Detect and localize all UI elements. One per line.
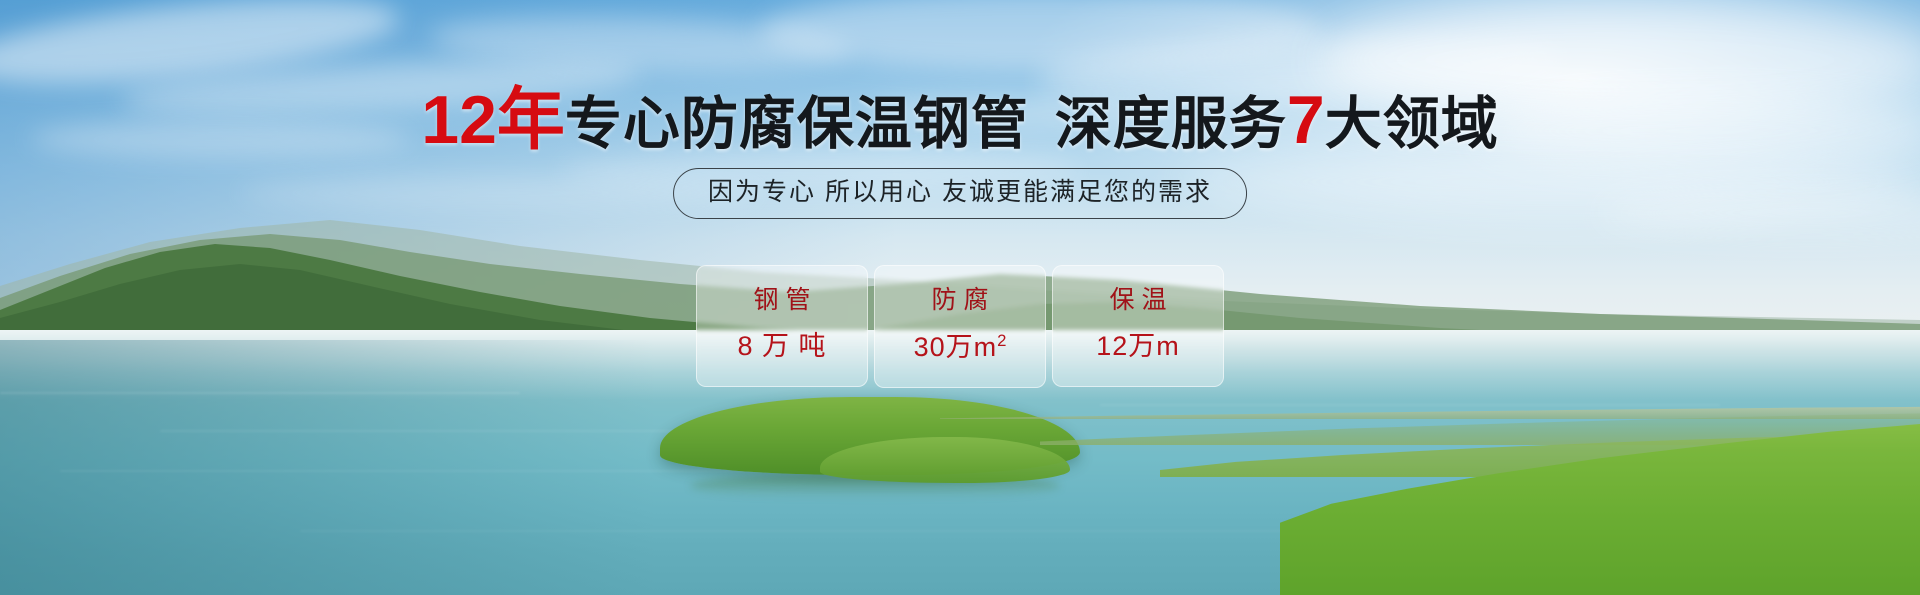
page-title: 12年专心防腐保温钢管深度服务7大领域 xyxy=(0,86,1920,154)
stat-value: 12万m xyxy=(1053,333,1223,360)
stat-value-text: 30万m xyxy=(914,332,998,362)
stat-card-steel-pipe[interactable]: 钢管 8 万 吨 xyxy=(696,265,868,387)
stats-row: 钢管 8 万 吨 防腐 30万m2 保温 12万m xyxy=(696,265,1224,388)
subtitle-text: 因为专心 所以用心 友诚更能满足您的需求 xyxy=(708,178,1212,206)
stat-value-superscript: 2 xyxy=(997,331,1006,350)
headline-fields: 大领域 xyxy=(1325,92,1499,156)
headline-service: 深度服务 xyxy=(1055,92,1287,156)
stat-value: 8 万 吨 xyxy=(697,333,867,360)
headline-fields-count: 7 xyxy=(1287,82,1325,158)
stat-label: 保温 xyxy=(1053,288,1223,313)
stat-value-text: 8 万 吨 xyxy=(737,331,826,361)
subtitle-pill: 因为专心 所以用心 友诚更能满足您的需求 xyxy=(673,168,1247,219)
stat-label: 钢管 xyxy=(697,288,867,313)
stat-label: 防腐 xyxy=(875,288,1045,313)
headline-main: 专心防腐保温钢管 xyxy=(565,92,1029,156)
stat-value: 30万m2 xyxy=(875,333,1045,361)
stat-card-insulation[interactable]: 保温 12万m xyxy=(1052,265,1224,387)
hero-banner: 12年专心防腐保温钢管深度服务7大领域 因为专心 所以用心 友诚更能满足您的需求… xyxy=(0,0,1920,595)
banner-content: 12年专心防腐保温钢管深度服务7大领域 因为专心 所以用心 友诚更能满足您的需求… xyxy=(0,0,1920,595)
stat-value-text: 12万m xyxy=(1096,331,1180,361)
headline-years: 12年 xyxy=(421,82,565,158)
stat-card-anticorrosion[interactable]: 防腐 30万m2 xyxy=(874,265,1046,388)
